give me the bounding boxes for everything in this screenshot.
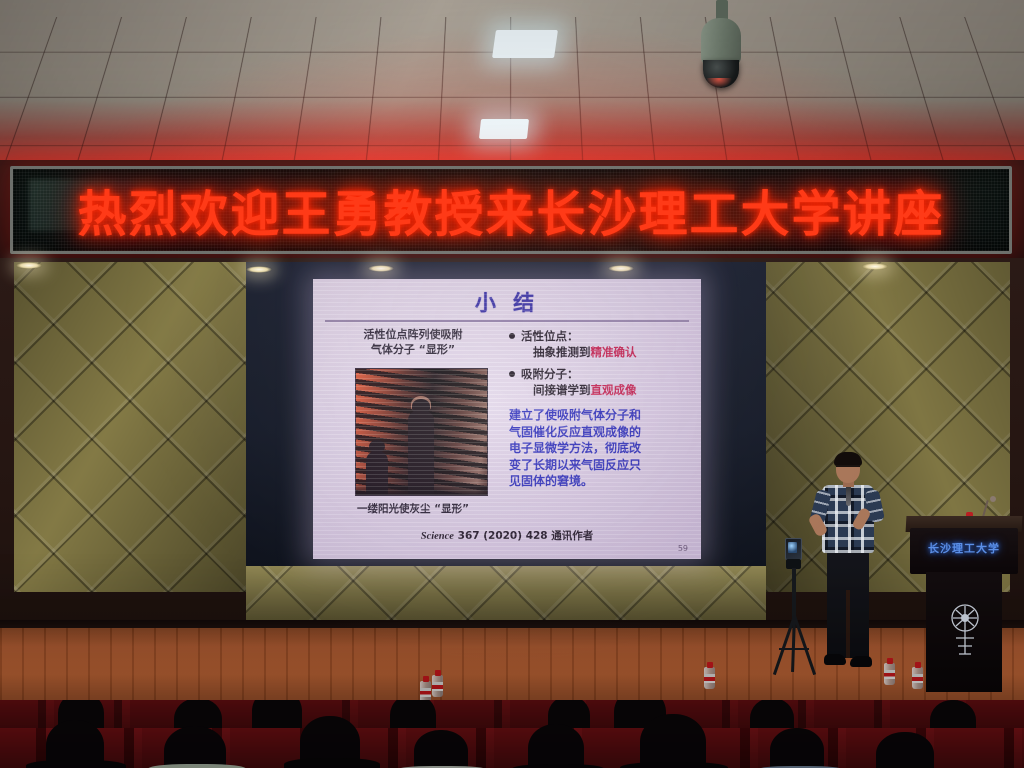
audience-shoulders	[26, 760, 126, 768]
slide-left-heading-line2: 气体分子 “显形”	[327, 342, 499, 357]
school-emblem-icon	[944, 598, 986, 660]
paragraph-line: 电子显微学方法，彻底改	[509, 440, 695, 457]
bottle-label	[420, 688, 431, 697]
audience-seating	[0, 700, 1024, 768]
wall-spotlight-icon	[368, 265, 394, 272]
lecture-hall-scene: 热烈欢迎王勇教授来长沙理工大学讲座 小 结 活性位点阵列使吸附 气体分子 “显形…	[0, 0, 1024, 768]
bullet-line2-highlight: 精准确认	[591, 345, 637, 359]
photo-floor-shadow	[356, 485, 487, 495]
projected-slide: 小 结 活性位点阵列使吸附 气体分子 “显形” 一缕阳光使灰尘 “显形” 活性位…	[313, 279, 701, 559]
photo-figure-standing	[408, 411, 434, 496]
citation-journal: Science	[421, 531, 454, 542]
bottle-label	[432, 682, 443, 691]
camera-body	[701, 18, 741, 66]
bullet-dot-icon	[509, 371, 515, 377]
led-banner-text: 热烈欢迎王勇教授来长沙理工大学讲座	[77, 175, 944, 246]
podium-university-name: 长沙理工大学	[914, 540, 1014, 556]
slide-page-number: 59	[678, 544, 688, 553]
bullet-line2-plain: 间接谱学到	[533, 383, 591, 397]
slide-photo-sunbeam	[355, 368, 488, 496]
audience-head	[640, 714, 706, 768]
bullet-line2: 间接谱学到直观成像	[521, 383, 637, 397]
eyeglasses-icon	[836, 465, 860, 470]
presenter-leg-gap	[846, 590, 850, 658]
slide-title-divider	[325, 320, 689, 322]
camera-tripod	[772, 538, 816, 678]
slide-left-heading-line1: 活性位点阵列使吸附	[327, 327, 499, 342]
slide-right-column: 活性位点： 抽象推测到精准确认 吸附分子： 间接谱学到直观成像 建立了使吸附气体…	[509, 328, 695, 490]
wall-spotlight-icon	[16, 262, 42, 269]
audience-head	[164, 726, 226, 768]
led-welcome-banner: 热烈欢迎王勇教授来长沙理工大学讲座	[10, 166, 1012, 254]
presenter-shoe	[824, 654, 846, 665]
bullet-line2-plain: 抽象推测到	[533, 345, 591, 359]
ceiling	[0, 0, 1024, 172]
presenter-figure	[812, 452, 884, 684]
panel-shading	[14, 262, 246, 592]
slide-bullet-item: 吸附分子： 间接谱学到直观成像	[509, 366, 695, 398]
bottle-cap	[887, 658, 893, 664]
water-bottle	[912, 662, 923, 689]
tripod-leg	[793, 616, 816, 676]
slide-citation: Science 367 (2020) 428 通讯作者	[313, 528, 701, 543]
podium-microphone-head	[990, 496, 996, 502]
citation-rest: 367 (2020) 428 通讯作者	[454, 530, 593, 542]
tripod-leg	[791, 616, 796, 672]
slide-photo-caption: 一缕阳光使灰尘 “显形”	[327, 501, 499, 516]
audience-head	[414, 730, 468, 768]
ceiling-light-panel-icon	[492, 30, 558, 58]
slide-bullet-item: 活性位点： 抽象推测到精准确认	[509, 328, 695, 360]
wall-spotlight-icon	[246, 266, 272, 273]
water-bottle	[704, 662, 715, 689]
slide-conclusion-paragraph: 建立了使吸附气体分子和 气固催化反应直观成像的 电子显微学方法，彻底改 变了长期…	[509, 407, 695, 490]
slide-left-heading: 活性位点阵列使吸附 气体分子 “显形”	[327, 327, 499, 357]
recording-phone-icon	[785, 538, 802, 560]
paragraph-line: 变了长期以来气固反应只	[509, 457, 695, 474]
slide-title: 小 结	[313, 287, 701, 317]
bullet-label: 吸附分子：	[521, 367, 579, 381]
audience-head	[876, 732, 934, 768]
bottle-label	[704, 674, 715, 683]
audience-shoulders	[512, 764, 604, 768]
audience-shoulders	[620, 762, 728, 768]
wall-spotlight-icon	[862, 263, 888, 270]
seat-row-front	[0, 728, 1024, 768]
bottle-label	[884, 670, 895, 679]
bullet-body: 吸附分子： 间接谱学到直观成像	[521, 366, 637, 398]
presenter-shoe	[850, 656, 872, 667]
bottle-cap	[915, 662, 921, 668]
ceiling-shading	[0, 0, 1024, 172]
dome-security-camera-icon	[692, 0, 750, 108]
water-bottle	[884, 658, 895, 685]
audience-shoulders	[148, 764, 246, 768]
wall-spotlight-icon	[608, 265, 634, 272]
water-bottle	[420, 676, 431, 703]
paragraph-line: 见固体的窘境。	[509, 473, 695, 490]
bullet-line2: 抽象推测到精准确认	[521, 345, 637, 359]
acoustic-quilt-panel-below-screen	[246, 566, 766, 628]
bullet-label: 活性位点：	[521, 329, 579, 343]
audience-head	[528, 724, 584, 768]
bottle-label	[912, 674, 923, 683]
bullet-body: 活性位点： 抽象推测到精准确认	[521, 328, 637, 360]
acoustic-quilt-panel-left	[14, 262, 246, 592]
bottle-cap	[435, 670, 441, 676]
seat-shading	[0, 728, 1024, 768]
ceiling-light-panel-icon	[479, 119, 529, 139]
slide-left-column: 活性位点阵列使吸附 气体分子 “显形”	[327, 327, 499, 357]
paragraph-line: 建立了使吸附气体分子和	[509, 407, 695, 424]
bottle-cap	[423, 676, 429, 682]
panel-shading	[246, 566, 766, 628]
water-bottle	[432, 670, 443, 697]
bullet-dot-icon	[509, 333, 515, 339]
bullet-line2-highlight: 直观成像	[591, 383, 637, 397]
audience-head	[770, 728, 824, 768]
bottle-cap	[707, 662, 713, 668]
tripod-center-post	[792, 568, 796, 620]
presenter-hair	[834, 452, 862, 466]
paragraph-line: 气固催化反应直观成像的	[509, 424, 695, 441]
audience-shoulders	[284, 758, 380, 768]
tripod-brace	[779, 648, 809, 650]
lectern-podium: 长沙理工大学	[906, 516, 1022, 691]
